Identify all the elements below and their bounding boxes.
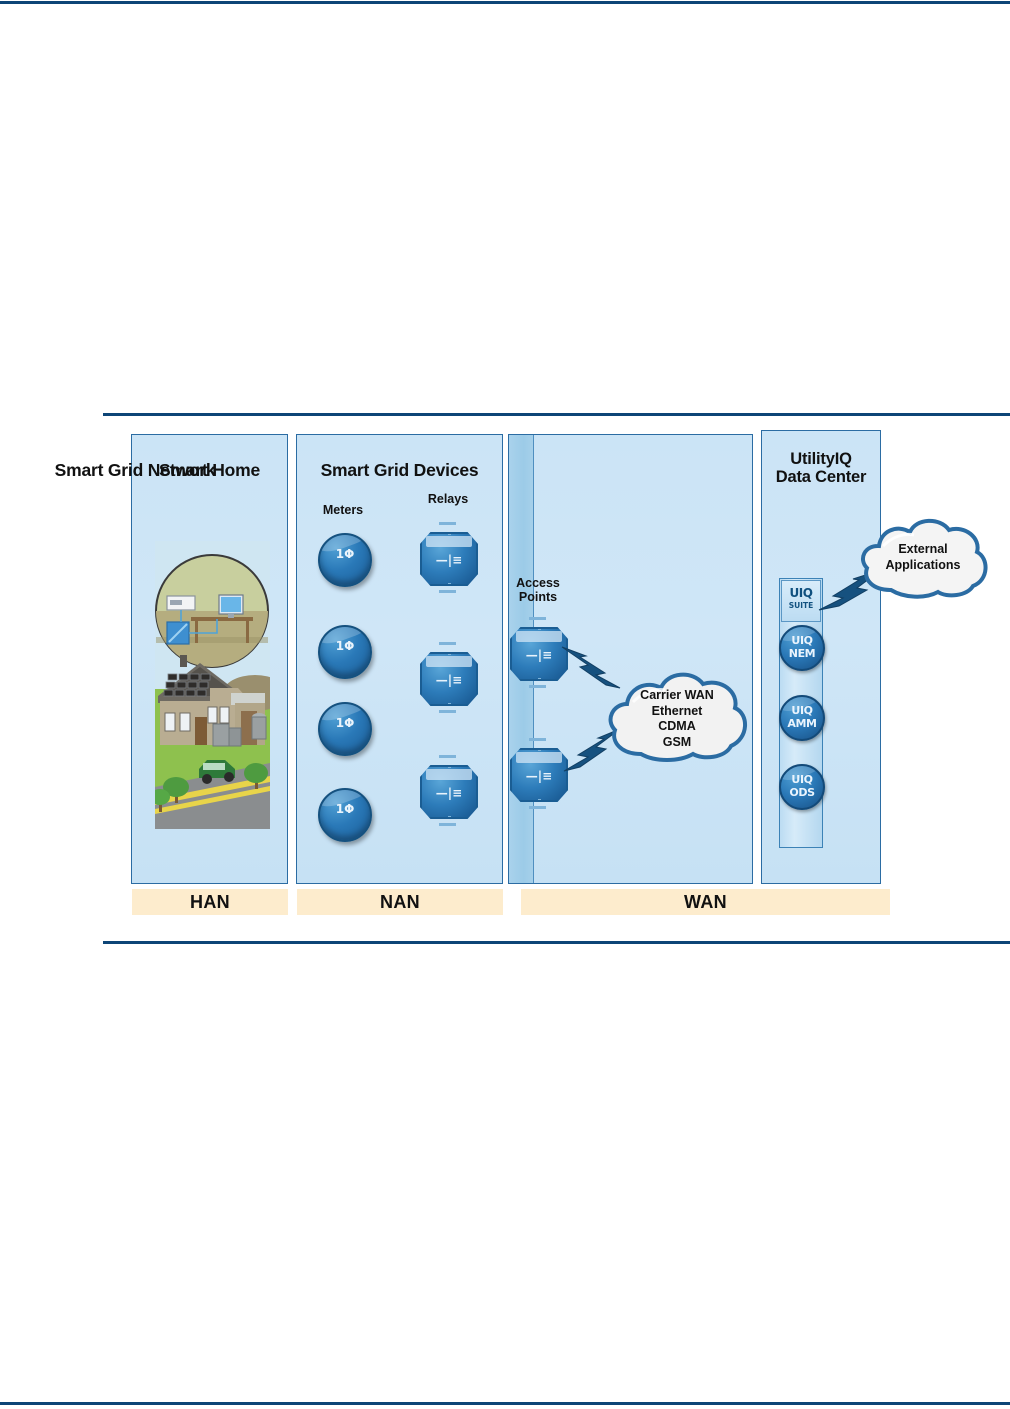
meter-glyph-label: 1Φ bbox=[320, 640, 370, 652]
network-bar-wan: WAN bbox=[521, 889, 890, 915]
panel-title-dc-line1: UtilityIQ bbox=[790, 450, 851, 468]
cloud-line-applications: Applications bbox=[885, 558, 960, 572]
panel-title-smart-grid-network: Smart Grid Network bbox=[25, 461, 245, 481]
relay-antenna-top bbox=[448, 652, 451, 655]
relay-icon[interactable]: —|≡ bbox=[420, 765, 478, 819]
caption-access-points-line2: Points bbox=[519, 590, 557, 604]
relay-antenna-bottom bbox=[448, 703, 451, 706]
uiq-nem-line1: UIQ bbox=[781, 627, 823, 646]
relay-icon[interactable]: —|≡ bbox=[420, 532, 478, 586]
caption-access-points: Access Points bbox=[506, 576, 570, 605]
smart-home-illustration bbox=[155, 541, 270, 829]
access-point-antenna-cross-icon bbox=[529, 738, 546, 741]
network-bar-han: HAN bbox=[132, 889, 288, 915]
relay-antenna-cross-icon bbox=[439, 710, 456, 713]
caption-access-points-line1: Access bbox=[516, 576, 560, 590]
relay-glyph-label: —|≡ bbox=[422, 787, 476, 799]
cloud-line-carrier-wan: Carrier WAN bbox=[640, 688, 714, 702]
panel-title-smart-grid-devices: Smart Grid Devices bbox=[296, 461, 503, 481]
cloud-line-cdma: CDMA bbox=[658, 719, 696, 733]
cloud-line-ethernet: Ethernet bbox=[652, 704, 703, 718]
meter-glyph-label: 1Φ bbox=[320, 548, 370, 560]
relay-antenna-cross-icon bbox=[439, 642, 456, 645]
access-point-glyph-label: —|≡ bbox=[512, 649, 566, 661]
relay-glyph-label: —|≡ bbox=[422, 554, 476, 566]
cloud-carrier-wan-labels: Carrier WAN Ethernet CDMA GSM bbox=[603, 688, 751, 751]
panel-title-utilityiq-data-center: UtilityIQ Data Center bbox=[761, 450, 881, 487]
meter-glyph-label: 1Φ bbox=[320, 717, 370, 729]
uiq-nem-line2: NEM bbox=[781, 646, 823, 659]
relay-icon[interactable]: —|≡ bbox=[420, 652, 478, 706]
caption-relays: Relays bbox=[416, 492, 480, 506]
cloud-external-applications[interactable]: External Applications bbox=[855, 512, 991, 602]
network-bar-nan: NAN bbox=[297, 889, 503, 915]
uiq-ods-node[interactable]: UIQ ODS bbox=[779, 764, 825, 810]
cloud-carrier-wan[interactable]: Carrier WAN Ethernet CDMA GSM bbox=[603, 662, 751, 770]
uiq-ods-line2: ODS bbox=[781, 785, 823, 798]
access-point-antenna-cross-icon bbox=[529, 685, 546, 688]
cloud-external-applications-labels: External Applications bbox=[855, 542, 991, 573]
meter-icon[interactable]: 1Φ bbox=[318, 788, 372, 842]
panel-title-dc-line2: Data Center bbox=[776, 468, 866, 486]
meter-glyph-label: 1Φ bbox=[320, 803, 370, 815]
access-point-antenna-cross-icon bbox=[529, 617, 546, 620]
relay-antenna-cross-icon bbox=[439, 755, 456, 758]
smart-grid-architecture-diagram: Smart Home bbox=[0, 0, 1010, 1409]
relay-antenna-cross-icon bbox=[439, 823, 456, 826]
uiq-amm-line1: UIQ bbox=[781, 697, 823, 716]
uiq-amm-node[interactable]: UIQ AMM bbox=[779, 695, 825, 741]
relay-antenna-cross-icon bbox=[439, 590, 456, 593]
uiq-nem-node[interactable]: UIQ NEM bbox=[779, 625, 825, 671]
access-point-antenna-bottom bbox=[538, 799, 541, 802]
cloud-line-external: External bbox=[898, 542, 947, 556]
access-point-antenna-cross-icon bbox=[529, 806, 546, 809]
relay-antenna-top bbox=[448, 765, 451, 768]
relay-antenna-bottom bbox=[448, 583, 451, 586]
relay-antenna-bottom bbox=[448, 816, 451, 819]
uiq-ods-line1: UIQ bbox=[781, 766, 823, 785]
access-point-antenna-bottom bbox=[538, 678, 541, 681]
cloud-line-gsm: GSM bbox=[663, 735, 691, 749]
access-point-antenna-top bbox=[538, 627, 541, 630]
meter-icon[interactable]: 1Φ bbox=[318, 625, 372, 679]
meter-icon[interactable]: 1Φ bbox=[318, 702, 372, 756]
access-point-antenna-top bbox=[538, 748, 541, 751]
meter-icon[interactable]: 1Φ bbox=[318, 533, 372, 587]
caption-meters: Meters bbox=[307, 503, 379, 517]
relay-antenna-cross-icon bbox=[439, 522, 456, 525]
relay-antenna-top bbox=[448, 532, 451, 535]
uiq-amm-line2: AMM bbox=[781, 716, 823, 729]
relay-glyph-label: —|≡ bbox=[422, 674, 476, 686]
